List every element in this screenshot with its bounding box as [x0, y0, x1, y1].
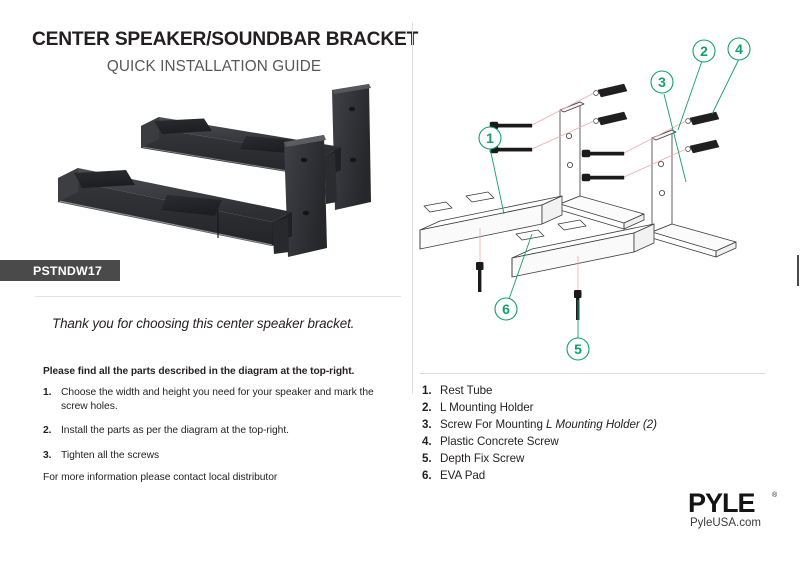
step-item: 2. Install the parts as per the diagram …	[43, 424, 395, 438]
contact-note: For more information please contact loca…	[43, 472, 395, 483]
page-edge-mark	[797, 255, 799, 286]
right-column: 1 2 3 4 5	[412, 0, 802, 567]
parts-lead-text: Please find all the parts described in t…	[43, 366, 403, 377]
part-name: Depth Fix Screw	[440, 452, 524, 465]
part-number: 3.	[422, 416, 432, 433]
exploded-diagram: 1 2 3 4 5	[412, 18, 802, 368]
parts-list-item: 6. EVA Pad	[422, 467, 752, 484]
step-text: Install the parts as per the diagram at …	[61, 425, 289, 436]
model-badge: PSTNDW17	[0, 260, 120, 281]
callout-label: 2	[700, 43, 708, 59]
left-column: CENTER SPEAKER/SOUNDBAR BRACKET QUICK IN…	[0, 0, 412, 567]
step-number: 3.	[43, 449, 52, 463]
thank-you-text: Thank you for choosing this center speak…	[52, 316, 402, 331]
parts-list-item: 3. Screw For Mounting L Mounting Holder …	[422, 416, 752, 433]
step-text: Tighten all the screws	[61, 450, 159, 461]
callout-1: 1	[479, 127, 501, 149]
product-photo	[36, 82, 400, 274]
callout-3: 3	[651, 71, 673, 93]
callout-5: 5	[567, 338, 589, 360]
model-number: PSTNDW17	[33, 264, 102, 278]
callout-label: 5	[574, 341, 582, 357]
parts-list-item: 1. Rest Tube	[422, 382, 752, 399]
page-title: CENTER SPEAKER/SOUNDBAR BRACKET	[32, 29, 396, 51]
callout-2: 2	[693, 40, 715, 62]
step-item: 1. Choose the width and height you need …	[43, 386, 395, 413]
part-number: 1.	[422, 382, 432, 399]
part-number: 4.	[422, 433, 432, 450]
part-number: 2.	[422, 399, 432, 416]
page-subtitle: QUICK INSTALLATION GUIDE	[32, 58, 396, 76]
callout-label: 1	[486, 130, 494, 146]
left-divider	[35, 296, 401, 297]
callout-label: 3	[658, 74, 666, 90]
parts-list: 1. Rest Tube 2. L Mounting Holder 3. Scr…	[422, 382, 752, 484]
part-name-emphasis: L Mounting Holder (2)	[546, 418, 657, 431]
logo-url: PyleUSA.com	[690, 517, 761, 529]
logo-registered-icon: ®	[772, 491, 778, 499]
parts-list-item: 5. Depth Fix Screw	[422, 450, 752, 467]
part-name: Plastic Concrete Screw	[440, 435, 559, 448]
part-name: L Mounting Holder	[440, 401, 533, 414]
callout-6: 6	[495, 298, 517, 320]
callout-label: 4	[735, 41, 743, 57]
parts-list-item: 2. L Mounting Holder	[422, 399, 752, 416]
step-number: 2.	[43, 424, 52, 438]
part-number: 5.	[422, 450, 432, 467]
part-name: EVA Pad	[440, 469, 485, 482]
step-item: 3. Tighten all the screws	[43, 449, 395, 463]
pyle-logo: PYLE ® PyleUSA.com	[688, 487, 793, 531]
step-text: Choose the width and height you need for…	[61, 387, 374, 412]
callout-4: 4	[728, 38, 750, 60]
step-number: 1.	[43, 386, 52, 400]
part-name: Rest Tube	[440, 384, 492, 397]
part-number: 6.	[422, 467, 432, 484]
guide-page: CENTER SPEAKER/SOUNDBAR BRACKET QUICK IN…	[0, 0, 802, 567]
logo-wordmark: PYLE	[688, 488, 755, 518]
callout-label: 6	[502, 301, 510, 317]
instruction-steps: 1. Choose the width and height you need …	[43, 386, 395, 473]
part-name: Screw For Mounting	[440, 418, 546, 431]
parts-list-item: 4. Plastic Concrete Screw	[422, 433, 752, 450]
parts-list-divider	[420, 373, 765, 374]
